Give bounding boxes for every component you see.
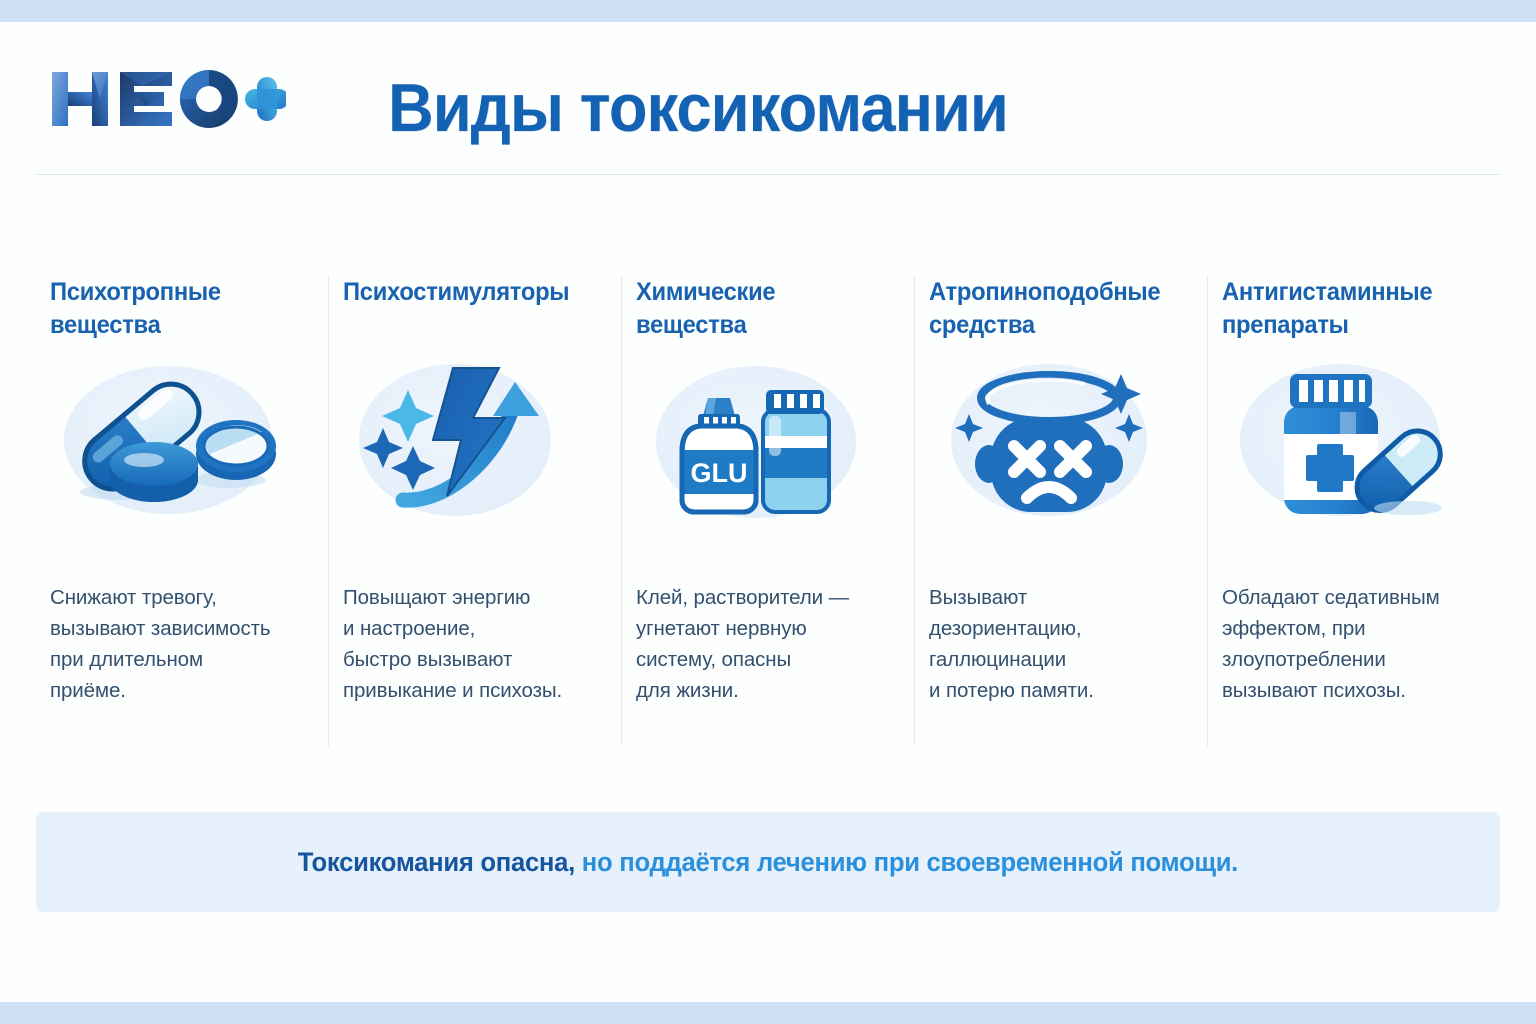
top-accent-band xyxy=(0,0,1536,22)
header: Виды токсикомании xyxy=(0,22,1536,190)
column-icon: GLU xyxy=(636,352,892,532)
column-icon xyxy=(343,352,599,532)
column-icon xyxy=(929,352,1185,532)
page-title: Виды токсикомании xyxy=(388,68,1008,148)
footer-strong-text: Токсикомания опасна, xyxy=(298,847,575,877)
column-description: Снижают тревогу, вызывают зависимость пр… xyxy=(50,582,310,706)
column-title: Психотропные вещества xyxy=(50,276,293,344)
category-column-atropine: Атропиноподобные средства xyxy=(914,276,1207,746)
column-description: Клей, растворители — угнетают нервную си… xyxy=(636,582,896,706)
column-description: Вызывают дезориентацию, галлюцинации и п… xyxy=(929,582,1189,706)
lightning-bolt-sparkles-arrow-icon xyxy=(345,352,595,532)
footer-callout-banner: Токсикомания опасна, но поддаётся лечени… xyxy=(36,812,1500,912)
column-icon xyxy=(1222,352,1478,532)
dizzy-head-x-eyes-icon xyxy=(929,352,1179,532)
infographic-page: Виды токсикомании Психотропные вещества xyxy=(0,0,1536,1024)
medicine-bottle-cross-capsule-icon xyxy=(1222,352,1472,532)
category-column-antihistamines: Антигистаминные препараты xyxy=(1207,276,1500,746)
column-description: Обладают седативным эффектом, при злоупо… xyxy=(1222,582,1482,706)
footer-callout-text: Токсикомания опасна, но поддаётся лечени… xyxy=(298,847,1238,878)
brand-logo[interactable] xyxy=(46,64,286,134)
column-title: Химические вещества xyxy=(636,276,879,344)
pills-capsule-tablets-icon xyxy=(52,354,302,534)
category-columns: Психотропные вещества xyxy=(36,276,1500,746)
logo-neo-plus-icon xyxy=(46,64,286,134)
column-icon xyxy=(50,352,306,532)
column-description: Повыщают энергию и настроение, быстро вы… xyxy=(343,582,603,706)
column-title: Психостимуляторы xyxy=(343,276,586,344)
category-column-chemicals: Химические вещества xyxy=(621,276,914,746)
bottom-accent-band xyxy=(0,1002,1536,1024)
category-column-psychotropic: Психотропные вещества xyxy=(36,276,328,746)
footer-light-text: но поддаётся лечению при своевременной п… xyxy=(575,847,1238,877)
glue-solvent-bottles-icon: GLU xyxy=(638,352,888,532)
column-title: Антигистаминные препараты xyxy=(1222,276,1465,344)
column-title: Атропиноподобные средства xyxy=(929,276,1172,344)
category-column-stimulants: Психостимуляторы xyxy=(328,276,621,746)
glue-label: GLU xyxy=(691,458,748,488)
header-divider xyxy=(36,174,1500,175)
